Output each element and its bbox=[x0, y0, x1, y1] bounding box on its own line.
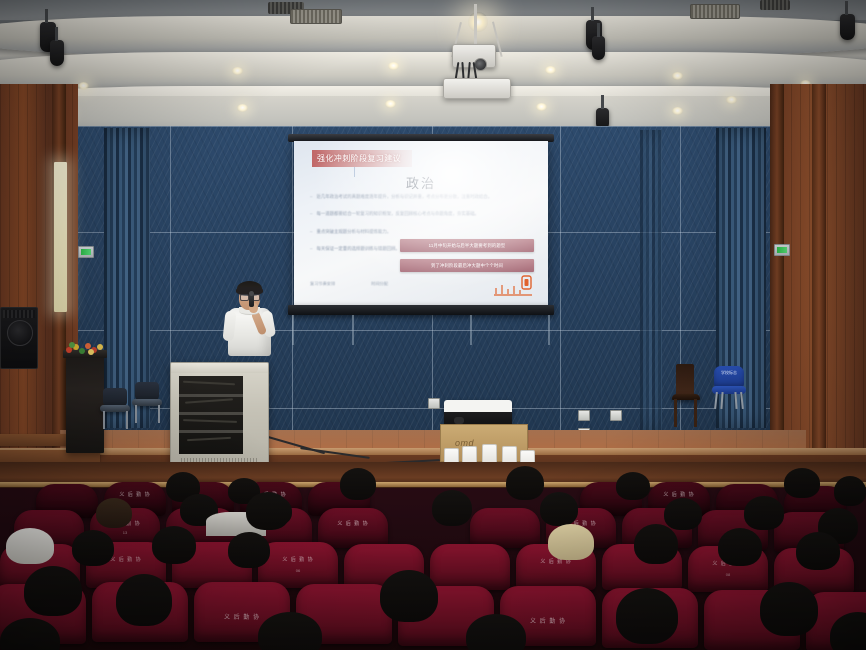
slide-footer-item: 时间分配 bbox=[371, 281, 388, 287]
handheld-microphone bbox=[249, 294, 254, 307]
slide-highlight-box-2: 到了冲刺阶段最后冲大题中个个时间 bbox=[400, 259, 534, 272]
audience-head bbox=[718, 528, 762, 566]
audience-head bbox=[540, 492, 578, 526]
chair-leg bbox=[720, 392, 723, 409]
audience-head bbox=[784, 468, 820, 498]
audience-head-front bbox=[760, 582, 818, 636]
seat bbox=[430, 544, 510, 590]
audience-head bbox=[96, 498, 132, 528]
slide-footer: 复习节奏安排 时间分配 bbox=[310, 281, 510, 287]
screen-bottom-bar bbox=[288, 305, 554, 315]
auditorium-photo: 强化冲刺阶段复习建议 政治 – 近几年政治考试的真题难度逐年提升，分析与识记并重… bbox=[0, 0, 866, 650]
chair-leg bbox=[734, 392, 737, 409]
slide-heading: 政治 bbox=[294, 173, 548, 192]
slide-logo bbox=[492, 275, 538, 299]
downlight bbox=[672, 72, 683, 80]
lectern bbox=[66, 355, 104, 453]
exit-sign-left bbox=[78, 246, 94, 258]
highlight-text: 到了冲刺阶段最后冲大题中个个时间 bbox=[431, 263, 503, 269]
flower bbox=[79, 348, 85, 354]
audience-head bbox=[834, 476, 866, 506]
wall-panel-seam bbox=[292, 126, 293, 444]
chair-leg bbox=[714, 392, 718, 409]
bullet-dash: – bbox=[310, 193, 312, 201]
slide-banner-text: 强化冲刺阶段复习建议 bbox=[317, 153, 401, 164]
audience-head bbox=[72, 530, 114, 566]
screen-support-leg bbox=[470, 315, 472, 345]
right-wall-trim-2 bbox=[812, 84, 826, 484]
downlight bbox=[672, 107, 683, 115]
downlight bbox=[536, 103, 547, 111]
wall-panel-seam bbox=[560, 126, 561, 444]
chair-leg bbox=[135, 405, 137, 423]
presenter bbox=[222, 281, 276, 369]
speaker-grille bbox=[3, 310, 35, 318]
downlight bbox=[545, 66, 556, 74]
ceiling-bright-lamp bbox=[468, 12, 488, 32]
audience-head-cap bbox=[6, 528, 54, 564]
flower bbox=[88, 349, 94, 355]
av-equipment-rack bbox=[170, 362, 269, 474]
stage-chair-left-1 bbox=[100, 388, 130, 432]
right-wall-trim bbox=[770, 84, 784, 484]
bullet-text: 每一道题都要结合一轮复习的知识框架，反复回顾核心考点与命题角度，夯实基础。 bbox=[316, 210, 478, 218]
downlight bbox=[726, 96, 737, 104]
slide-bullet-list: – 近几年政治考试的真题难度逐年提升，分析与识记并重，考点分布更分散，注重时政结… bbox=[310, 193, 530, 262]
audience-area: 义 后 勤 协 义 后 勤 协 义 后 勤 协 义 后 勤 协 13 义 后 勤… bbox=[0, 462, 866, 650]
audience-head bbox=[152, 526, 196, 564]
wall-panel-seam bbox=[78, 330, 782, 331]
audience-head bbox=[634, 524, 678, 564]
pa-speaker-left bbox=[0, 307, 38, 369]
wall-outlet-center bbox=[578, 410, 590, 421]
stage-spotlight-edge bbox=[840, 14, 855, 40]
seat-number: 06 bbox=[258, 568, 338, 573]
audience-head bbox=[744, 496, 784, 530]
chair-back bbox=[135, 382, 159, 400]
exit-sign-glow bbox=[81, 249, 91, 255]
audience-head-front bbox=[116, 574, 172, 626]
exit-sign-right bbox=[774, 244, 790, 256]
flower bbox=[69, 342, 75, 348]
chair-leg bbox=[674, 399, 677, 427]
screen-support-leg bbox=[292, 315, 294, 345]
seat-text: 义 后 勤 协 bbox=[318, 520, 388, 527]
audience-head bbox=[246, 492, 290, 530]
ceiling-projector-base bbox=[443, 78, 511, 99]
bullet-text: 每天保证一定量的选择题训练与错题回顾。 bbox=[316, 245, 399, 253]
wall-outlet-projector bbox=[428, 398, 440, 409]
stage-chair-blue: 学校标志 bbox=[712, 366, 746, 408]
ceiling-vent-right bbox=[760, 0, 790, 10]
chair-legs bbox=[712, 392, 746, 409]
downlight bbox=[232, 67, 243, 75]
floor-projector-lens bbox=[454, 417, 464, 424]
audience-head-front bbox=[616, 588, 678, 644]
chair-leg bbox=[740, 392, 744, 409]
exit-sign-glow bbox=[777, 247, 787, 253]
slide-footer-item: 复习节奏安排 bbox=[310, 281, 335, 287]
wall-panel-seam bbox=[78, 126, 782, 127]
bullet-dash: – bbox=[310, 228, 312, 236]
slide-highlight-box-1: 11月中旬开始与后半大题要考到的题型 bbox=[400, 239, 534, 252]
chair-leg bbox=[126, 411, 128, 429]
stage-spotlight-left-2 bbox=[50, 40, 64, 66]
seat-text: 义 后 勤 协 bbox=[648, 491, 710, 498]
downlight bbox=[78, 82, 89, 90]
downlight bbox=[385, 100, 396, 108]
flower-arrangement bbox=[64, 341, 106, 355]
chair-logo: 学校标志 bbox=[721, 371, 737, 383]
slide-bullet: – 重点突破主观题分析与材料提炼能力。 bbox=[310, 228, 530, 236]
projection-screen: 强化冲刺阶段复习建议 政治 – 近几年政治考试的真题难度逐年提升，分析与识记并重… bbox=[294, 141, 548, 305]
stage-spotlight-right-2 bbox=[592, 36, 605, 60]
chair-leg bbox=[694, 399, 697, 427]
audience-head bbox=[432, 490, 472, 526]
ceiling-band-1 bbox=[0, 16, 866, 56]
audience-head bbox=[506, 466, 544, 500]
screen-support-leg bbox=[548, 315, 550, 345]
chair-back bbox=[103, 388, 127, 406]
flower bbox=[97, 344, 103, 350]
slide-title-banner: 强化冲刺阶段复习建议 bbox=[312, 150, 412, 167]
stage-chair-wood bbox=[672, 364, 700, 424]
curtain-back-center bbox=[640, 130, 662, 430]
rack-interior bbox=[179, 376, 243, 454]
audience-head-front bbox=[24, 566, 82, 616]
slide-bullet: – 每一道题都要结合一轮复习的知识框架，反复回顾核心考点与命题角度，夯实基础。 bbox=[310, 210, 530, 218]
wall-outlet-right bbox=[610, 410, 622, 421]
ceiling bbox=[0, 0, 866, 132]
audience-head bbox=[616, 472, 650, 500]
downlight bbox=[237, 104, 248, 112]
seat-text: 义 后 勤 协 bbox=[104, 491, 166, 498]
ceiling-grille-left bbox=[290, 9, 342, 24]
downlight bbox=[388, 62, 399, 70]
rack-wiring bbox=[181, 376, 241, 450]
chair-leg bbox=[158, 405, 160, 423]
bullet-dash: – bbox=[310, 210, 312, 218]
chair-leg bbox=[103, 411, 105, 429]
ceiling-grille-right bbox=[690, 4, 740, 19]
seat: 义 后 勤 协 bbox=[318, 508, 388, 548]
audience-head bbox=[664, 498, 702, 530]
seat-text: 义 后 勤 协 bbox=[258, 556, 338, 563]
seat bbox=[470, 508, 540, 548]
seat-text: 义 后 勤 协 bbox=[516, 558, 596, 565]
audience-head-front bbox=[380, 570, 438, 622]
stage-chair-left-2 bbox=[132, 382, 162, 426]
audience-head bbox=[228, 532, 270, 568]
wall-light-slot-left bbox=[54, 162, 67, 312]
audience-head bbox=[796, 532, 840, 570]
bullet-text: 近几年政治考试的真题难度逐年提升，分析与识记并重，考点分布更分散，注重时政结合。 bbox=[316, 193, 492, 201]
chair-back bbox=[676, 364, 694, 396]
seat-number: 08 bbox=[688, 572, 768, 577]
audience-head-cap bbox=[548, 524, 594, 560]
audience-head bbox=[340, 468, 376, 500]
bullet-text: 重点突破主观题分析与材料提炼能力。 bbox=[316, 228, 391, 236]
highlight-text: 11月中旬开始与后半大题要考到的题型 bbox=[429, 243, 506, 249]
screen-support-leg bbox=[352, 315, 354, 345]
slide-bullet: – 近几年政治考试的真题难度逐年提升，分析与识记并重，考点分布更分散，注重时政结… bbox=[310, 193, 530, 201]
bullet-dash: – bbox=[310, 245, 312, 253]
